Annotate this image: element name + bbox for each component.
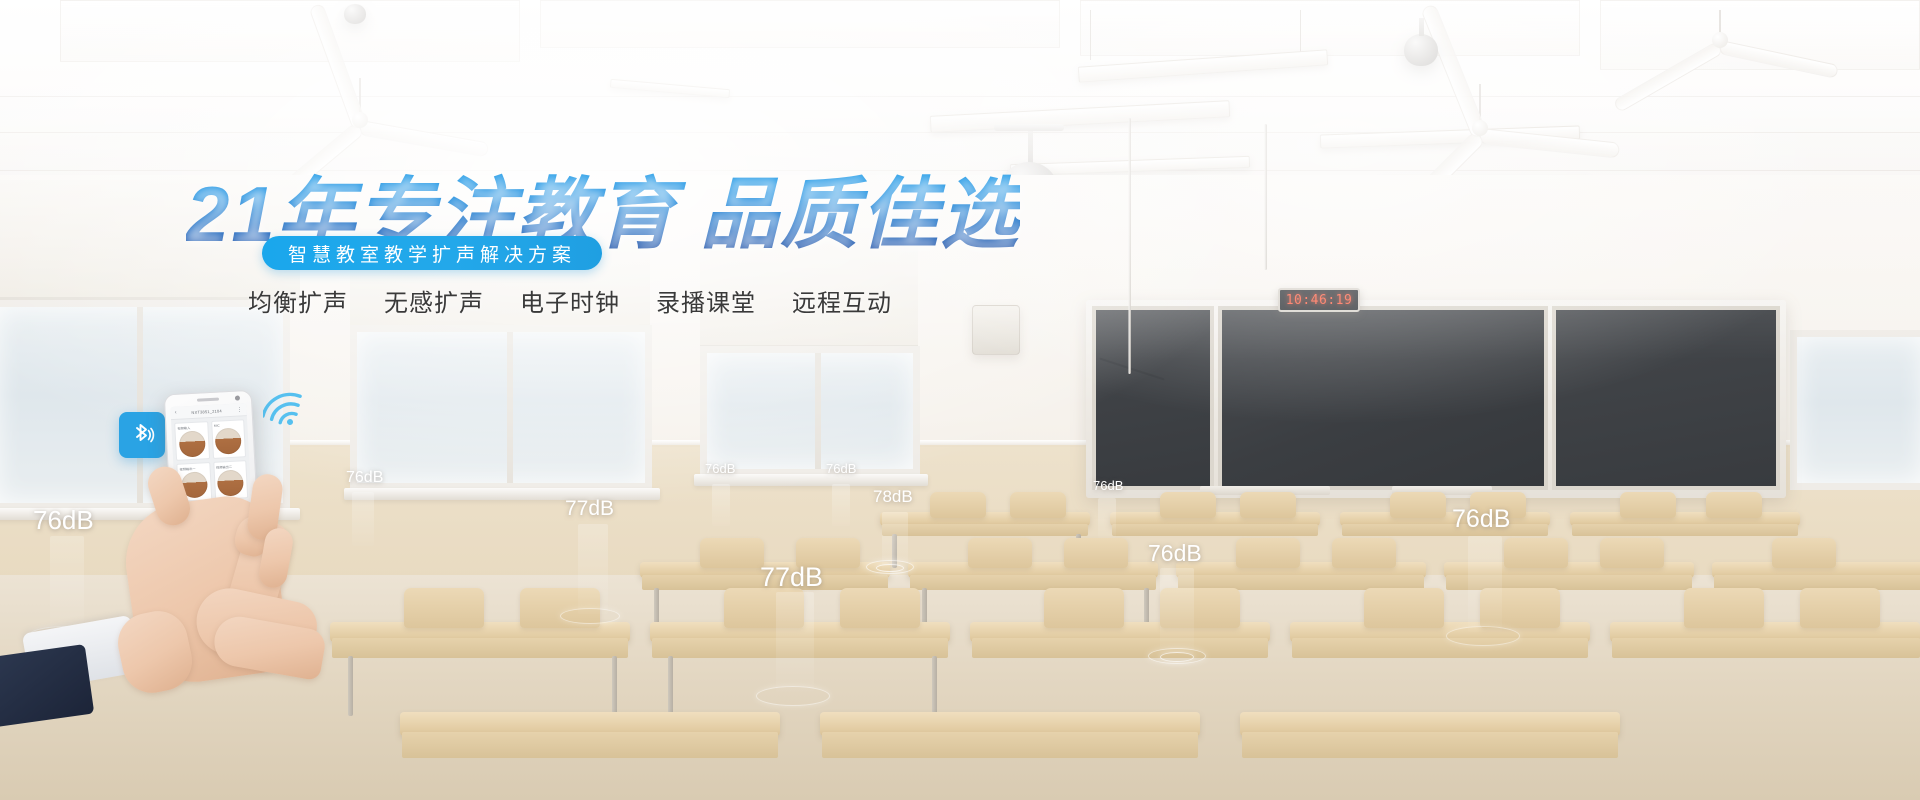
chair [1620,492,1676,518]
chair [1706,492,1762,518]
db-label-6: 78dB [873,487,913,507]
chair [1772,538,1836,568]
ceiling-sensor [344,4,366,24]
chair [840,588,920,628]
control-card-label: 视频输出一 [179,466,195,472]
db-label-4: 76dB [705,461,735,476]
sound-beam [776,592,814,692]
more-vertical-icon[interactable]: ⋮ [236,406,242,413]
chair [1064,538,1128,568]
wall-ac-unit [972,305,1020,355]
chair [1684,588,1764,628]
chair [1390,492,1446,518]
feature-item-3: 录播课堂 [656,283,756,318]
chair [1010,492,1066,518]
chair [1504,538,1568,568]
sound-ripple [756,686,830,706]
desk-front [972,638,1268,658]
sound-beam [1160,568,1194,654]
app-title: NXT3851_2104 [191,408,222,415]
desk-front [332,638,628,658]
desk-front [1572,524,1798,536]
desk-front [1612,638,1920,658]
db-label-9: 76dB [1452,505,1510,534]
desk-leg [932,656,937,716]
subtitle-pill-label: 智慧教室教学扩声解决方案 [288,240,576,267]
wifi-waves-icon [263,382,317,426]
sensor-stem [1419,18,1424,36]
ceiling-panel [540,0,1060,48]
chair [1332,538,1396,568]
board-right-wing [1552,306,1780,490]
classroom-banner: 10:46:19 [0,0,1920,800]
chair [968,538,1032,568]
speaker-stem [1028,128,1033,164]
desk-leg [612,656,617,716]
desk-front [1292,638,1588,658]
sound-beam [352,492,374,546]
sound-ripple [1446,626,1520,646]
control-card-1[interactable]: MIC [211,419,246,459]
db-label-1: 76dB [346,469,383,487]
bluetooth-signal-icon [127,420,157,450]
control-card-3[interactable]: 视频输出二 [213,460,248,500]
subtitle-pill: 智慧教室教学扩声解决方案 [262,236,602,270]
sound-beam [712,484,730,526]
volume-knob[interactable] [178,430,205,457]
db-label-5: 76dB [826,461,856,476]
control-card-label: 视频输出二 [216,464,232,470]
desk-leg [668,656,673,716]
feature-list: 均衡扩声无感扩声电子时钟录播课堂远程互动 [248,283,892,318]
feature-item-4: 远程互动 [792,283,892,318]
chair [1236,538,1300,568]
db-label-0: 76dB [33,505,94,536]
ceiling-sensor [1404,34,1438,66]
phone-camera [235,395,240,400]
chair [1800,588,1880,628]
mic-pole [1264,124,1267,270]
control-card-label: 视频输入 [177,425,190,431]
window [700,346,920,476]
control-card-label: MIC [214,424,220,428]
volume-knob[interactable] [215,427,242,454]
desk-front [1342,524,1548,536]
light-wire [1090,10,1091,60]
chair [404,588,484,628]
desk-leg [348,656,353,716]
sound-ripple [876,564,904,572]
feature-item-2: 电子时钟 [520,283,620,318]
chair [1044,588,1124,628]
db-label-8: 76dB [1148,540,1202,567]
ceiling-panel [60,0,520,62]
sound-beam [578,524,608,614]
sound-ripple [560,608,620,624]
db-label-3: 77dB [760,562,823,593]
desk-front [1112,524,1318,536]
mic-pole [1128,118,1131,374]
sound-beam [1468,536,1502,632]
feature-item-0: 均衡扩声 [248,283,348,318]
volume-knob[interactable] [217,469,244,496]
window [1790,330,1920,490]
chair [1600,538,1664,568]
desk-front [822,732,1198,758]
chair [1240,492,1296,518]
sound-ripple [1160,652,1194,662]
phone-earpiece [197,398,219,402]
sound-beam [1098,498,1116,538]
chair [1160,492,1216,518]
interactive-whiteboard [1218,306,1548,490]
ceiling-seam [0,132,1920,133]
desk-front [1242,732,1618,758]
db-label-2: 77dB [565,497,614,521]
chair [930,492,986,518]
control-card-0[interactable]: 视频输入 [174,421,209,461]
speaker-mount [994,124,1064,131]
bluetooth-badge[interactable] [119,412,165,458]
chevron-left-icon[interactable]: ‹ [174,410,176,416]
chair [1364,588,1444,628]
db-label-7: 76dB [1093,478,1123,493]
window [350,325,652,490]
ceiling-panel [1080,0,1580,56]
sound-beam [50,536,84,632]
digital-clock: 10:46:19 [1278,288,1360,312]
desk-front [882,524,1088,536]
board-left-wing [1092,306,1214,490]
chair [700,538,764,568]
clock-time: 10:46:19 [1286,293,1353,308]
desk-front [402,732,778,758]
feature-item-1: 无感扩声 [384,283,484,318]
sound-beam [832,484,850,526]
